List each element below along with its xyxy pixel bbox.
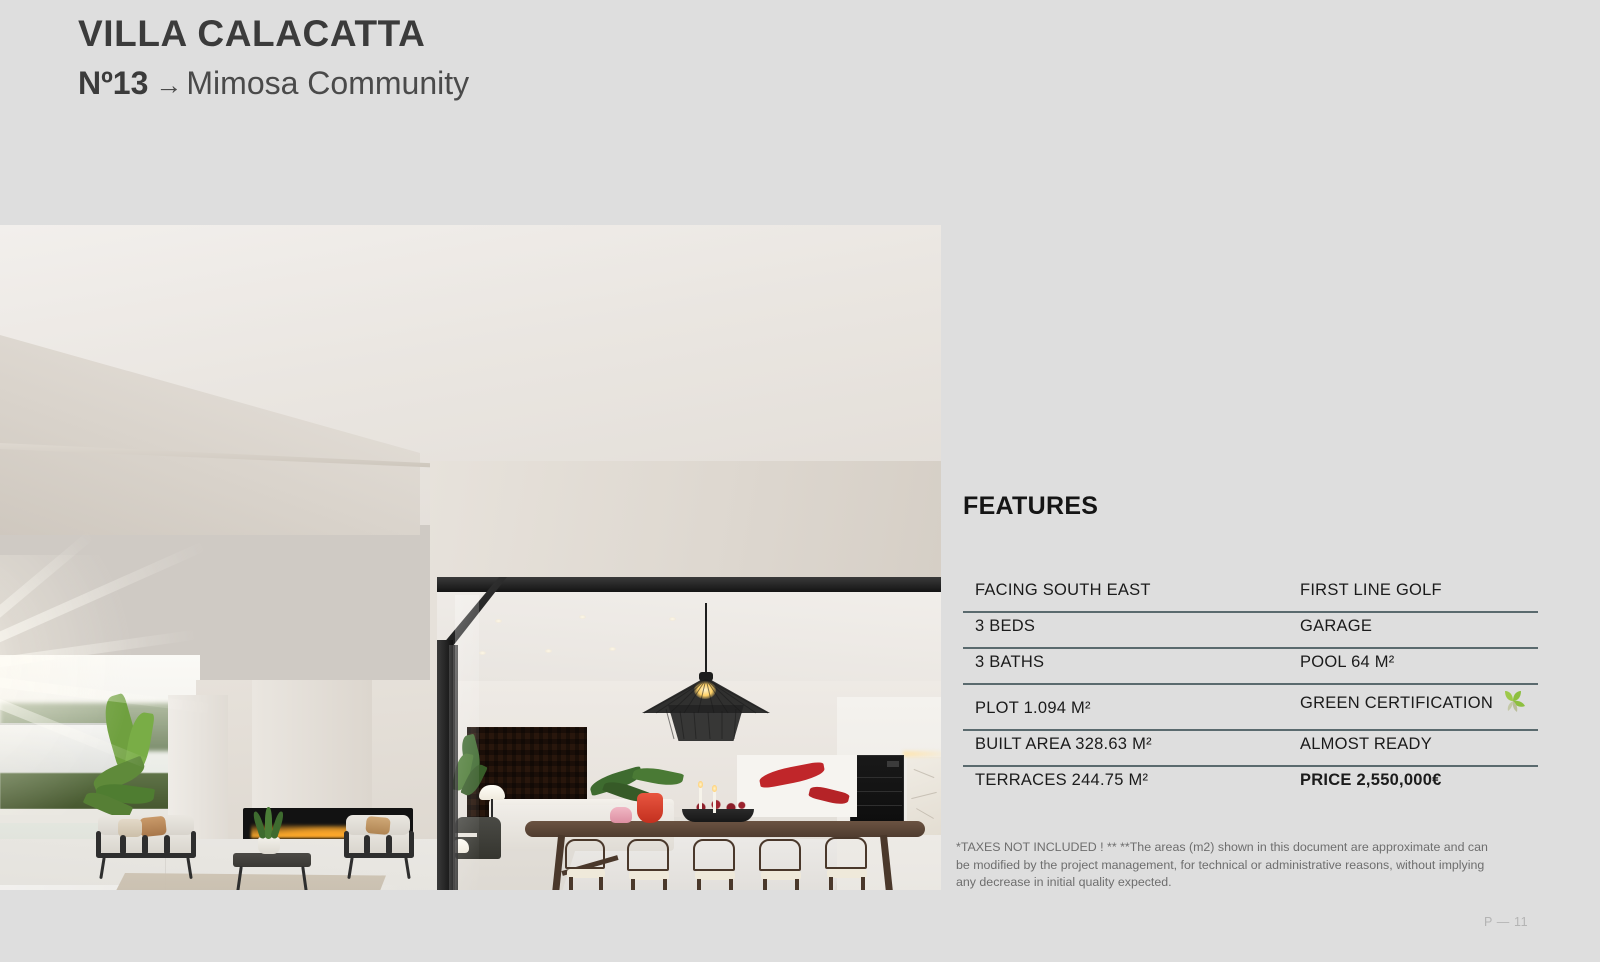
arrow-icon: → bbox=[148, 70, 186, 100]
candle-flame bbox=[698, 781, 703, 788]
subtitle: Nº13→Mimosa Community bbox=[78, 63, 469, 105]
features-table: FACING SOUTH EASTFIRST LINE GOLF3 BEDSGA… bbox=[963, 577, 1538, 801]
page-header: VILLA CALACATTA Nº13→Mimosa Community bbox=[78, 10, 469, 105]
disclaimer-line-2: be modified by the project management, f… bbox=[956, 858, 1435, 872]
neighbour-house bbox=[0, 725, 120, 773]
chair-arm bbox=[409, 831, 414, 857]
features-panel: FEATURES FACING SOUTH EASTFIRST LINE GOL… bbox=[963, 492, 1538, 801]
feature-left-5: TERRACES 244.75 M² bbox=[963, 766, 1282, 801]
feature-left-2: 3 BATHS bbox=[963, 648, 1282, 684]
pink-bowl bbox=[610, 807, 632, 823]
under-cabinet-light bbox=[903, 751, 941, 757]
chair-slat bbox=[386, 835, 392, 855]
feature-right-4: ALMOST READY bbox=[1282, 730, 1538, 766]
wall-artwork bbox=[737, 755, 857, 817]
features-row: FACING SOUTH EASTFIRST LINE GOLF bbox=[963, 577, 1538, 612]
features-table-body: FACING SOUTH EASTFIRST LINE GOLF3 BEDSGA… bbox=[963, 577, 1538, 801]
glass-reflection bbox=[455, 595, 479, 890]
features-row: 3 BEDSGARAGE bbox=[963, 612, 1538, 648]
downlight bbox=[479, 651, 486, 655]
page-number: P — 11 bbox=[1484, 915, 1528, 929]
features-heading: FEATURES bbox=[963, 492, 1538, 521]
sliding-door-head-frame bbox=[437, 577, 941, 592]
pendant-cord bbox=[705, 603, 707, 675]
unit-number: Nº13 bbox=[78, 65, 148, 101]
outdoor-coffee-table bbox=[233, 853, 311, 867]
feature-right-1: GARAGE bbox=[1282, 612, 1538, 648]
candle bbox=[699, 787, 702, 809]
disclaimer-line-1: *TAXES NOT INCLUDED ! ** **The areas (m2… bbox=[956, 840, 1488, 854]
leaf-icon bbox=[1500, 689, 1526, 718]
feature-left-4: BUILT AREA 328.63 M² bbox=[963, 730, 1282, 766]
downlight bbox=[545, 649, 552, 653]
oven-panel-line bbox=[852, 805, 902, 806]
chair-arm bbox=[344, 831, 349, 857]
feature-right-5: PRICE 2,550,000€ bbox=[1282, 766, 1538, 801]
sofa-arm bbox=[96, 831, 101, 857]
sofa-slat bbox=[164, 835, 170, 855]
candle-flame bbox=[712, 785, 717, 792]
property-photo bbox=[0, 225, 941, 890]
interior-through-sliding-door bbox=[437, 577, 941, 890]
throw-pillow bbox=[139, 816, 167, 838]
feature-left-1: 3 BEDS bbox=[963, 612, 1282, 648]
throw-pillow bbox=[365, 816, 390, 835]
downlight bbox=[579, 615, 586, 619]
dining-table bbox=[525, 821, 925, 837]
features-row: TERRACES 244.75 M²PRICE 2,550,000€ bbox=[963, 766, 1538, 801]
feature-right-0: FIRST LINE GOLF bbox=[1282, 577, 1538, 612]
feature-right-3: GREEN CERTIFICATION bbox=[1282, 684, 1538, 730]
serving-bowl bbox=[682, 809, 754, 822]
candle bbox=[713, 791, 716, 813]
oven-display bbox=[887, 761, 899, 767]
downlight bbox=[669, 617, 676, 621]
disclaimer-text: *TAXES NOT INCLUDED ! ** **The areas (m2… bbox=[956, 839, 1501, 892]
features-row: BUILT AREA 328.63 M²ALMOST READY bbox=[963, 730, 1538, 766]
planter-pot bbox=[258, 837, 280, 854]
page-title: VILLA CALACATTA bbox=[78, 10, 469, 57]
pendant-wire-pattern bbox=[642, 677, 770, 741]
downlight bbox=[609, 647, 616, 651]
community-name: Mimosa Community bbox=[186, 65, 469, 101]
oven-panel-line bbox=[852, 791, 902, 792]
sofa-arm bbox=[191, 831, 196, 857]
features-row: PLOT 1.094 M²GREEN CERTIFICATION bbox=[963, 684, 1538, 730]
feature-right-2: POOL 64 M² bbox=[1282, 648, 1538, 684]
downlight bbox=[495, 619, 502, 623]
sofa-slat bbox=[120, 835, 126, 855]
chair-slat bbox=[364, 835, 370, 855]
feature-left-3: PLOT 1.094 M² bbox=[963, 684, 1282, 730]
oven-panel-line bbox=[852, 777, 902, 778]
feature-left-0: FACING SOUTH EAST bbox=[963, 577, 1282, 612]
sofa-slat bbox=[142, 835, 148, 855]
floor-lamp-shade bbox=[479, 785, 505, 800]
features-row: 3 BATHSPOOL 64 M² bbox=[963, 648, 1538, 684]
red-vase bbox=[637, 793, 663, 823]
